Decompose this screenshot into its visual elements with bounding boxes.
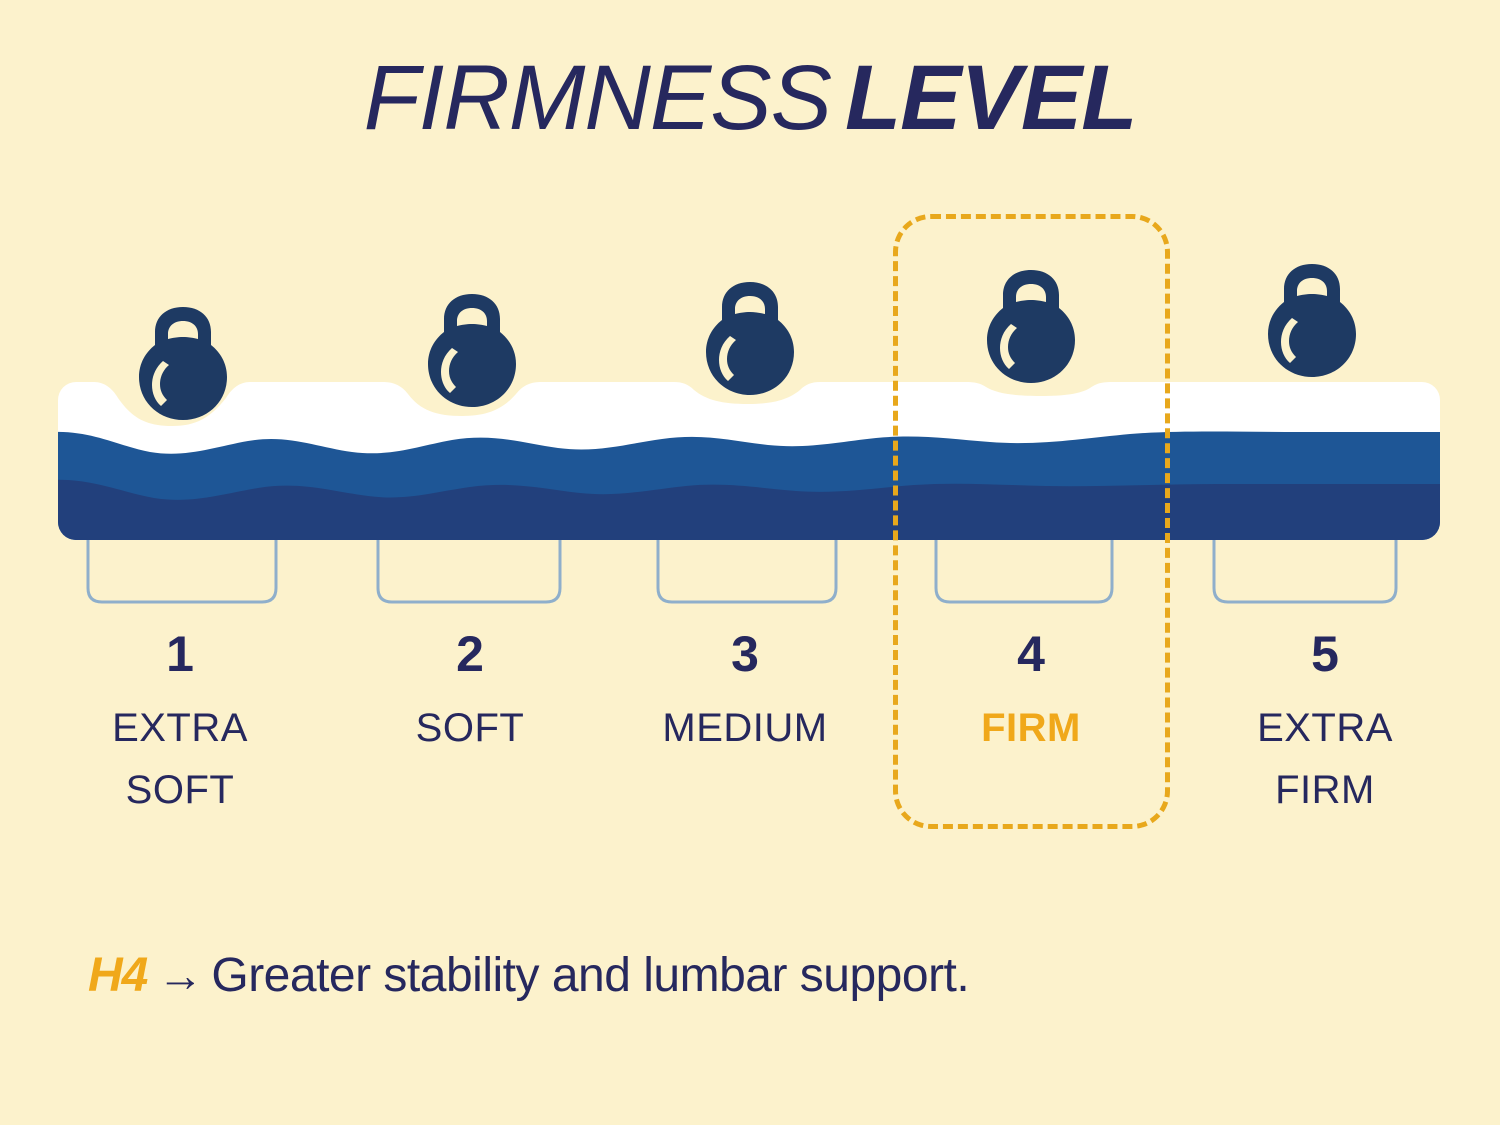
mattress-outline <box>58 382 1440 540</box>
scale-level-2-label-line1: SOFT <box>350 697 590 759</box>
mattress-middle-layer <box>50 432 1450 561</box>
mattress-base-layer <box>50 480 1450 560</box>
firmness-level-4-highlight-box[interactable] <box>893 214 1170 829</box>
scale-level-1-label-line2: SOFT <box>60 759 300 821</box>
scale-level-1[interactable]: 1 EXTRA SOFT <box>60 628 300 821</box>
kettlebell-icon-level-3 <box>700 280 800 398</box>
scale-level-1-number: 1 <box>60 628 300 681</box>
title-word-level: LEVEL <box>845 47 1136 149</box>
scale-level-1-label: EXTRA SOFT <box>60 697 300 821</box>
scale-level-3-label: MEDIUM <box>625 697 865 759</box>
infographic-canvas: FIRMNESSLEVEL <box>0 0 1500 1125</box>
scale-level-5-label-line2: FIRM <box>1205 759 1445 821</box>
level-bracket-1 <box>88 540 276 602</box>
level-bracket-5 <box>1214 540 1396 602</box>
scale-level-3[interactable]: 3 MEDIUM <box>625 628 865 759</box>
kettlebell-icon-level-1 <box>133 305 233 423</box>
arrow-right-icon: → <box>157 949 203 1001</box>
scale-level-2-number: 2 <box>350 628 590 681</box>
footnote: H4→Greater stability and lumbar support. <box>88 948 969 1003</box>
scale-level-2-label: SOFT <box>350 697 590 759</box>
page-title: FIRMNESSLEVEL <box>0 52 1500 144</box>
scale-level-5-number: 5 <box>1205 628 1445 681</box>
kettlebell-icon-level-5 <box>1262 262 1362 380</box>
level-bracket-3 <box>658 540 836 602</box>
scale-level-5-label-line1: EXTRA <box>1205 697 1445 759</box>
scale-level-3-number: 3 <box>625 628 865 681</box>
scale-level-5[interactable]: 5 EXTRA FIRM <box>1205 628 1445 821</box>
level-bracket-2 <box>378 540 560 602</box>
scale-level-3-label-line1: MEDIUM <box>625 697 865 759</box>
mattress-layers <box>50 375 1450 560</box>
level-brackets <box>88 540 1396 602</box>
scale-level-5-label: EXTRA FIRM <box>1205 697 1445 821</box>
title-word-firmness: FIRMNESS <box>364 47 831 149</box>
scale-level-1-label-line1: EXTRA <box>60 697 300 759</box>
footnote-tag: H4 <box>88 949 147 1002</box>
kettlebell-icon-level-2 <box>422 292 522 410</box>
scale-level-2[interactable]: 2 SOFT <box>350 628 590 759</box>
footnote-text: Greater stability and lumbar support. <box>211 949 969 1002</box>
